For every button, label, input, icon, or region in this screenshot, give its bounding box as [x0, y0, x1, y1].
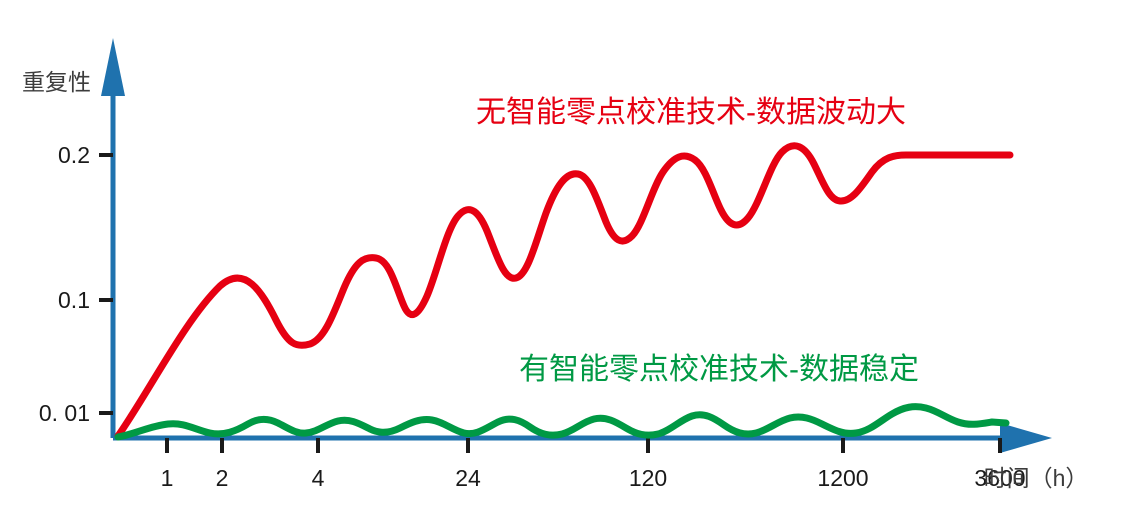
x-tick-label: 24: [455, 465, 481, 491]
repeatability-vs-time-chart: 重复性 0.2 0.1 0. 01 1 2 4 24 120 1200 3600…: [0, 0, 1144, 507]
y-tick-label: 0.2: [58, 142, 90, 168]
series-line-with-calibration: [118, 407, 1006, 437]
x-tick-label: 120: [629, 465, 667, 491]
x-tick-label: 2: [216, 465, 229, 491]
red-series-annotation: 无智能零点校准技术-数据波动大: [476, 96, 906, 129]
series-line-no-calibration: [118, 146, 1010, 436]
y-axis-arrow-icon: [101, 38, 125, 96]
green-series-annotation: 有智能零点校准技术-数据稳定: [519, 353, 919, 386]
y-tick-label: 0.1: [58, 287, 90, 313]
chart-container: 重复性 0.2 0.1 0. 01 1 2 4 24 120 1200 3600…: [0, 0, 1144, 507]
x-tick-label: 1200: [817, 465, 868, 491]
x-axis-title: 时间（h）: [984, 465, 1089, 491]
x-tick-label: 1: [161, 465, 174, 491]
x-tick-label: 4: [312, 465, 325, 491]
x-axis-arrow-icon: [1000, 423, 1052, 453]
y-tick-label: 0. 01: [39, 400, 90, 426]
y-axis-title: 重复性: [22, 69, 91, 95]
